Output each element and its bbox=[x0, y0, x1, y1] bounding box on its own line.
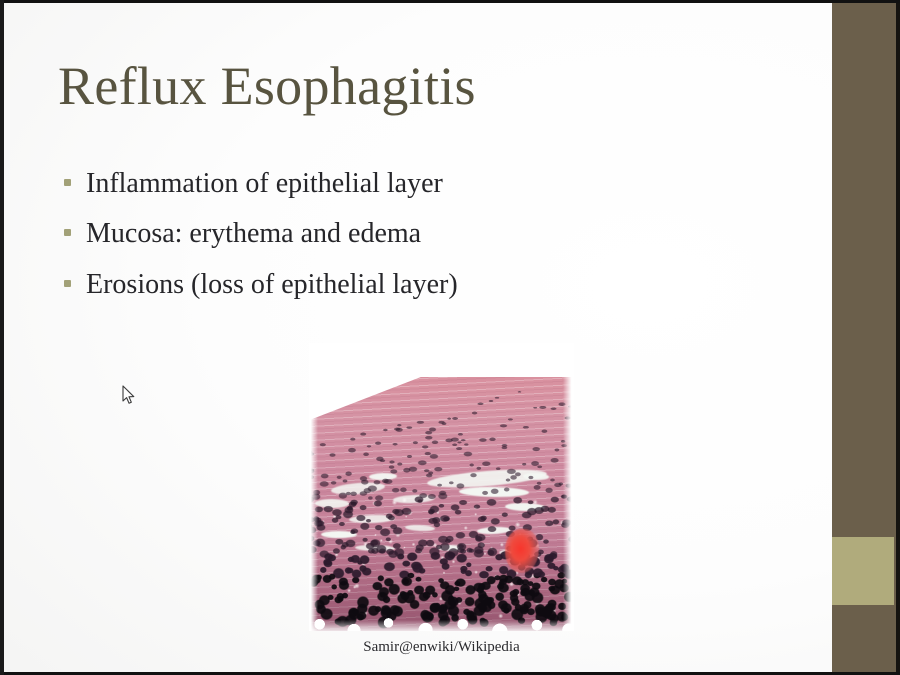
list-item-label: Erosions (loss of epithelial layer) bbox=[86, 264, 458, 305]
tissue-edge-right bbox=[563, 343, 574, 631]
slide-title: Reflux Esophagitis bbox=[58, 58, 476, 115]
bullet-marker-icon bbox=[64, 229, 71, 236]
decorative-side-band-accent bbox=[832, 537, 894, 605]
cell-nuclei-layer bbox=[309, 377, 574, 631]
histology-image bbox=[309, 343, 574, 631]
list-item-label: Inflammation of epithelial layer bbox=[86, 163, 443, 204]
figure-caption: Samir@enwiki/Wikipedia bbox=[309, 639, 574, 656]
decorative-side-band-edge bbox=[896, 0, 900, 675]
tissue-edge-top bbox=[459, 343, 574, 383]
tissue-edge-bottom bbox=[309, 611, 574, 631]
list-item: Erosions (loss of epithelial layer) bbox=[64, 264, 764, 305]
tissue-edge-left bbox=[309, 343, 318, 631]
presentation-slide: Reflux Esophagitis Inflammation of epith… bbox=[0, 0, 900, 675]
bullet-list: Inflammation of epithelial layer Mucosa:… bbox=[64, 163, 764, 314]
window-frame-top bbox=[0, 0, 900, 3]
window-frame-left bbox=[0, 0, 4, 675]
list-item: Inflammation of epithelial layer bbox=[64, 163, 764, 204]
bullet-marker-icon bbox=[64, 280, 71, 287]
histology-figure bbox=[309, 343, 574, 631]
slide-canvas: Reflux Esophagitis Inflammation of epith… bbox=[4, 3, 832, 672]
list-item-label: Mucosa: erythema and edema bbox=[86, 213, 421, 254]
list-item: Mucosa: erythema and edema bbox=[64, 213, 764, 254]
bullet-marker-icon bbox=[64, 179, 71, 186]
